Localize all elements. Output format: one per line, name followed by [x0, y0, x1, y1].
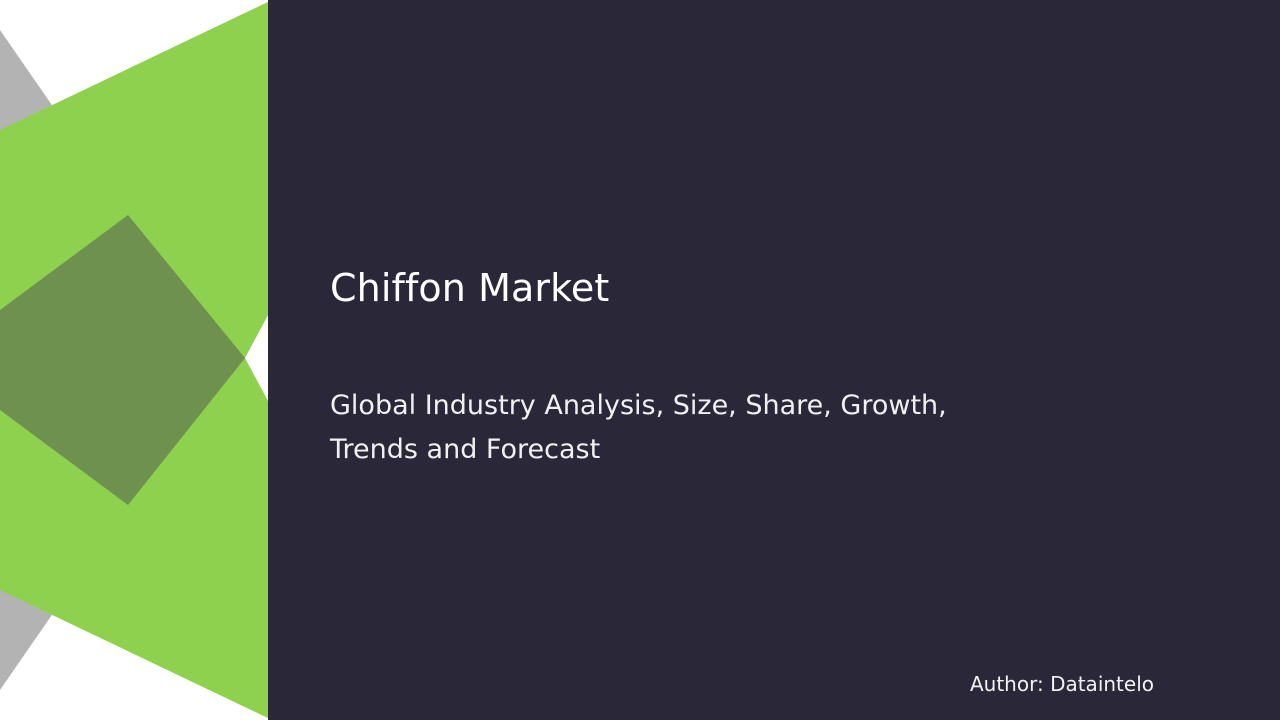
slide-subtitle: Global Industry Analysis, Size, Share, G…: [330, 384, 1010, 472]
olive-overlap-lower: [0, 358, 245, 505]
presentation-slide: Chiffon Market Global Industry Analysis,…: [0, 0, 1280, 720]
author-credit: Author: Dataintelo: [970, 670, 1154, 698]
gray-chevron-icon: [0, 30, 128, 690]
content-panel: [268, 0, 1280, 720]
olive-overlap-upper: [0, 215, 245, 358]
olive-overlap-group: [0, 215, 245, 505]
page-title: Chiffon Market: [330, 262, 1090, 314]
